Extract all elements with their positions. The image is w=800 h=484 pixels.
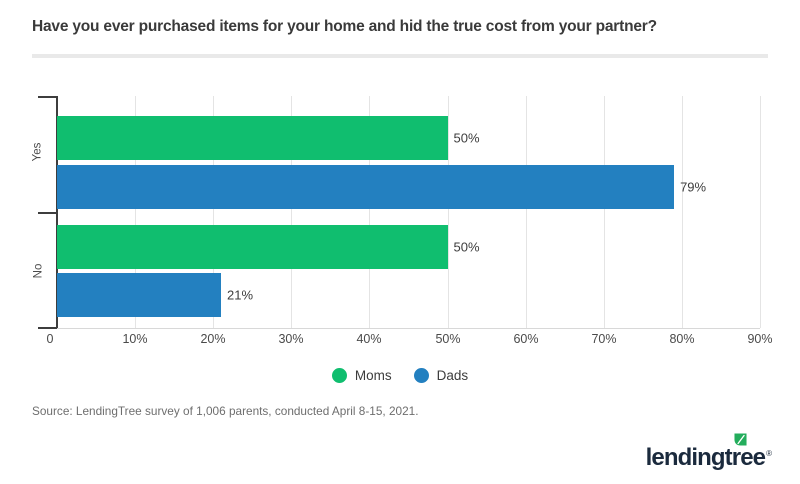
x-tick-label-80: 80%	[669, 332, 694, 346]
y-axis-tick	[38, 96, 57, 98]
x-tick-label-10: 10%	[122, 332, 147, 346]
x-tick-label-0: 0	[47, 332, 54, 346]
gridline-80	[682, 96, 683, 328]
bar-value-yes-dads: 79%	[680, 180, 706, 195]
x-tick-label-50: 50%	[435, 332, 460, 346]
logo-trademark: ®	[766, 449, 772, 458]
bar-value-no-moms: 50%	[454, 240, 480, 255]
x-tick-label-30: 30%	[278, 332, 303, 346]
bar-yes-dads[interactable]	[57, 165, 674, 209]
x-tick-label-70: 70%	[591, 332, 616, 346]
bar-no-dads[interactable]	[57, 273, 221, 317]
source-note: Source: LendingTree survey of 1,006 pare…	[32, 404, 419, 418]
gridline-60	[526, 96, 527, 328]
chart-legend: Moms Dads	[0, 368, 800, 383]
legend-swatch-moms-icon	[332, 368, 347, 383]
category-label-yes: Yes	[31, 143, 43, 162]
legend-item-moms[interactable]: Moms	[332, 368, 392, 383]
category-label-no: No	[32, 264, 44, 279]
gridline-70	[604, 96, 605, 328]
title-divider	[32, 54, 768, 58]
x-tick-label-90: 90%	[747, 332, 772, 346]
bar-value-no-dads: 21%	[227, 288, 253, 303]
gridline-90	[760, 96, 761, 328]
bar-value-yes-moms: 50%	[454, 131, 480, 146]
x-tick-label-60: 60%	[513, 332, 538, 346]
legend-item-dads[interactable]: Dads	[414, 368, 469, 383]
gridline-50	[448, 96, 449, 328]
logo-wordmark: lendingtree	[646, 446, 765, 470]
y-axis-tick	[38, 212, 57, 214]
x-tick-label-40: 40%	[356, 332, 381, 346]
bar-yes-moms[interactable]	[57, 116, 448, 160]
legend-label-dads: Dads	[437, 368, 469, 383]
legend-swatch-dads-icon	[414, 368, 429, 383]
page-title: Have you ever purchased items for your h…	[32, 18, 772, 36]
lendingtree-logo: lendingtree ®	[646, 440, 772, 470]
x-axis-line	[57, 328, 760, 329]
y-axis-tick	[38, 327, 57, 329]
bar-no-moms[interactable]	[57, 225, 448, 269]
x-tick-label-20: 20%	[200, 332, 225, 346]
legend-label-moms: Moms	[355, 368, 392, 383]
plot-area: 50% 79% 50% 21%	[57, 96, 760, 328]
leaf-icon	[732, 431, 749, 448]
